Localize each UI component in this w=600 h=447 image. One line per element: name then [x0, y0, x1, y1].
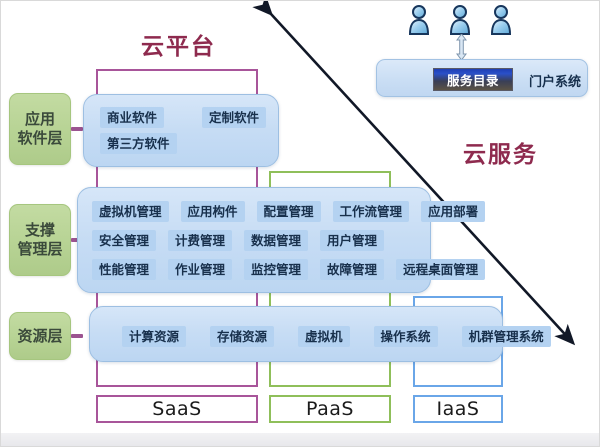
- layer-label-support-management: 支撑 管理层: [9, 204, 71, 276]
- resource-row-1: 计算资源 存储资源 虚拟机 操作系统 机群管理系统: [90, 326, 534, 347]
- layer-label-resource: 资源层: [9, 312, 71, 360]
- saas-label-box: SaaS: [96, 395, 258, 423]
- chip-item[interactable]: 故障管理: [320, 259, 384, 280]
- chip-item[interactable]: 应用部署: [421, 201, 485, 222]
- connector-application-layer: [71, 127, 83, 131]
- iaas-label-box: IaaS: [413, 395, 503, 423]
- service-catalog-button[interactable]: 服务目录: [433, 68, 513, 91]
- chip-item[interactable]: 机群管理系统: [462, 326, 551, 347]
- chip-item[interactable]: 商业软件: [100, 107, 164, 128]
- layer-label-line2: 管理层: [17, 240, 62, 259]
- management-row-1: 虚拟机管理 应用构件 配置管理 工作流管理 应用部署: [78, 201, 444, 222]
- resource-panel: 计算资源 存储资源 虚拟机 操作系统 机群管理系统: [89, 306, 503, 362]
- user-icon: [407, 4, 431, 36]
- layer-label-line1: 支撑: [25, 221, 55, 240]
- chip-item[interactable]: 作业管理: [168, 259, 232, 280]
- chip-item[interactable]: 存储资源: [210, 326, 274, 347]
- management-row-2: 安全管理 计费管理 数据管理 用户管理: [78, 230, 444, 251]
- layer-label-line1: 资源层: [17, 327, 62, 346]
- chip-item[interactable]: 工作流管理: [333, 201, 410, 222]
- support-management-panel: 虚拟机管理 应用构件 配置管理 工作流管理 应用部署 安全管理 计费管理 数据管…: [77, 187, 431, 293]
- chip-item[interactable]: 安全管理: [92, 230, 156, 251]
- paas-label-box: PaaS: [269, 395, 391, 423]
- chip-item[interactable]: 虚拟机: [298, 326, 350, 347]
- page-title-cloud-service: 云服务: [463, 135, 538, 169]
- chip-item[interactable]: 监控管理: [244, 259, 308, 280]
- chip-item[interactable]: 性能管理: [92, 259, 156, 280]
- user-icon: [489, 4, 513, 36]
- page-title-cloud-platform: 云平台: [141, 27, 216, 61]
- chip-item[interactable]: 操作系统: [374, 326, 438, 347]
- chip-item[interactable]: 远程桌面管理: [396, 259, 485, 280]
- diagram-canvas: 云平台 云服务 应用 软件层 支撑 管理层 资源层 商业软件 定制软件 第三方软…: [0, 0, 600, 447]
- user-portal-double-arrow: [456, 34, 467, 60]
- chip-item[interactable]: 计算资源: [122, 326, 186, 347]
- chip-item[interactable]: 应用构件: [181, 201, 245, 222]
- chip-item[interactable]: 用户管理: [320, 230, 384, 251]
- bottom-strip: [1, 433, 600, 447]
- connector-resource-layer: [71, 334, 83, 338]
- layer-label-line2: 软件层: [17, 129, 62, 148]
- chip-item[interactable]: 第三方软件: [100, 133, 177, 154]
- portal-system-box: 服务目录 门户系统: [376, 59, 588, 97]
- application-software-panel: 商业软件 定制软件 第三方软件: [83, 94, 279, 167]
- chip-item[interactable]: 数据管理: [244, 230, 308, 251]
- application-row-2: 第三方软件: [84, 133, 294, 154]
- application-row-1: 商业软件 定制软件: [84, 107, 294, 128]
- layer-label-line1: 应用: [25, 110, 55, 129]
- chip-item[interactable]: 配置管理: [257, 201, 321, 222]
- chip-item[interactable]: 计费管理: [168, 230, 232, 251]
- chip-item[interactable]: 虚拟机管理: [92, 201, 169, 222]
- portal-system-label: 门户系统: [529, 71, 581, 90]
- layer-label-application-software: 应用 软件层: [9, 93, 71, 165]
- management-row-3: 性能管理 作业管理 监控管理 故障管理 远程桌面管理: [78, 259, 444, 280]
- user-icon: [448, 4, 472, 36]
- chip-item[interactable]: 定制软件: [202, 107, 266, 128]
